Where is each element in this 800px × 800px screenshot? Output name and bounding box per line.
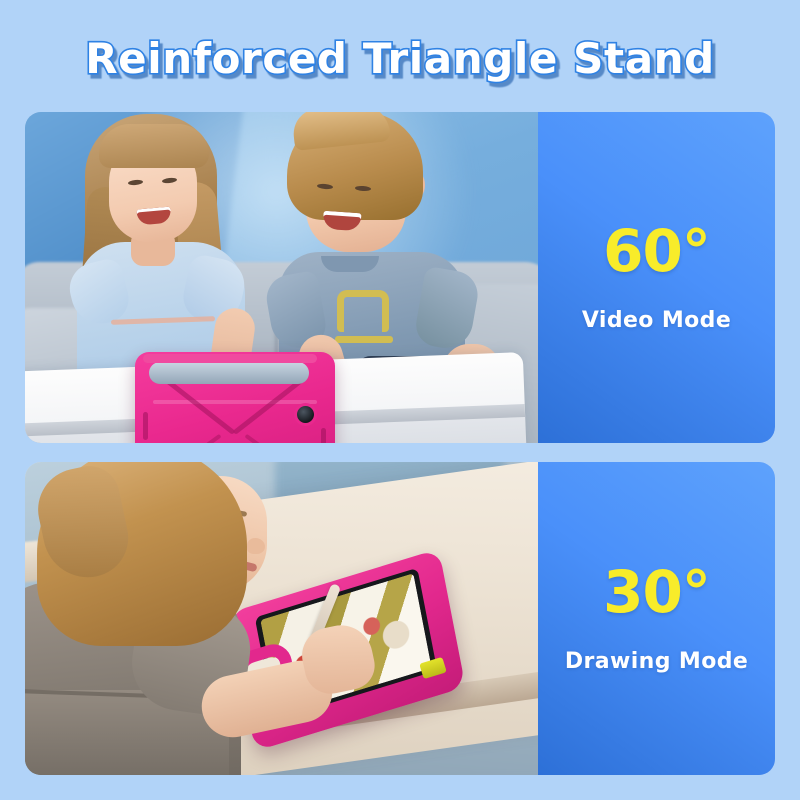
case-handle-cutout [149,362,309,384]
camera-hole [297,406,314,423]
case-mid-ridge [153,400,317,404]
angle-value-drawing: 30° [603,563,710,621]
girl-fringe [99,124,209,168]
girl2-nose [247,538,265,554]
boy-shirt-logo [337,290,389,332]
boy-shirt-logo-bar [335,336,393,343]
info-panel-drawing-mode: 30° Drawing Mode [538,462,775,775]
info-panel-video-mode: 60° Video Mode [538,112,775,443]
angle-value-video: 60° [603,222,710,280]
case-port-right [321,428,326,443]
photo-living-room-two-kids [25,112,538,443]
product-feature-page: Reinforced Triangle Stand [0,0,800,800]
feature-card-video-mode: 60° Video Mode [25,112,775,443]
page-title-bar: Reinforced Triangle Stand [0,26,800,90]
boy-shirt-collar [321,256,379,272]
feature-card-drawing-mode: 30° Drawing Mode [25,462,775,775]
mode-label-video: Video Mode [582,308,731,333]
photo-girl-drawing [25,462,538,775]
mode-label-drawing: Drawing Mode [565,649,748,674]
page-title: Reinforced Triangle Stand [85,34,715,83]
case-handle-bar [143,354,317,363]
case-port-left [143,412,148,440]
